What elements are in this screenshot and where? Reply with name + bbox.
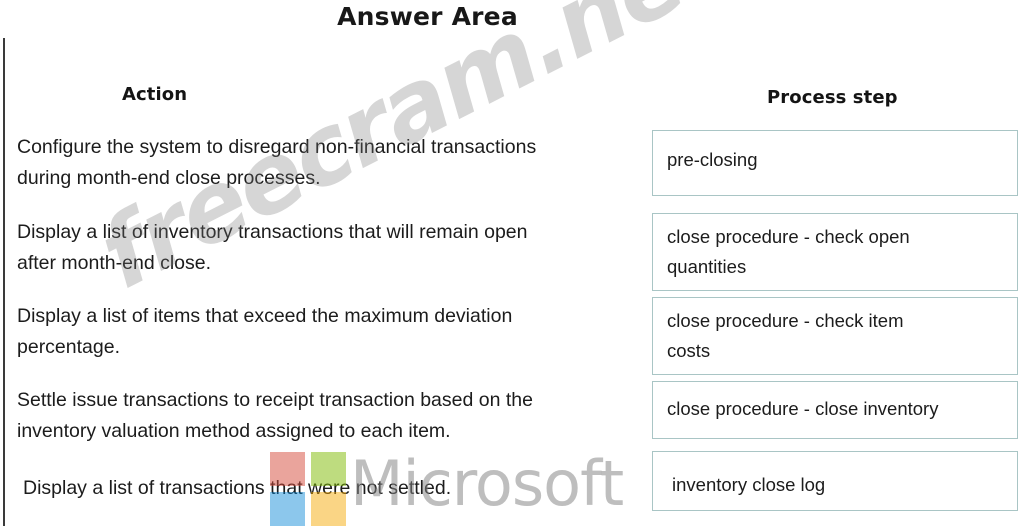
- process-step-line: costs: [667, 336, 1017, 366]
- action-item-line: inventory valuation method assigned to e…: [17, 416, 642, 447]
- process-step-box[interactable]: close procedure - check open quantities: [652, 213, 1018, 291]
- process-step-line: inventory close log: [672, 470, 1017, 500]
- process-step-box[interactable]: close procedure - check item costs: [652, 297, 1018, 375]
- action-item: Settle issue transactions to receipt tra…: [17, 385, 642, 447]
- action-item-line: Display a list of inventory transactions…: [17, 217, 642, 248]
- column-header-action: Action: [122, 84, 187, 105]
- column-header-process-step: Process step: [767, 87, 898, 108]
- action-item: Display a list of items that exceed the …: [17, 301, 642, 363]
- answer-area-page: Answer Area Action Process step Configur…: [0, 0, 1018, 526]
- page-title: Answer Area: [0, 2, 855, 31]
- action-item-line: Display a list of items that exceed the …: [17, 301, 642, 332]
- left-border-rule: [3, 38, 5, 526]
- process-step-line: quantities: [667, 252, 1017, 282]
- process-step-line: pre-closing: [667, 145, 1017, 175]
- process-step-box[interactable]: inventory close log: [652, 451, 1018, 511]
- action-item-line: Settle issue transactions to receipt tra…: [17, 385, 642, 416]
- process-step-line: close procedure - check item: [667, 306, 1017, 336]
- action-item: Display a list of transactions that were…: [17, 473, 642, 504]
- action-item-line: Configure the system to disregard non-fi…: [17, 132, 642, 163]
- action-item-line: percentage.: [17, 332, 642, 363]
- action-item: Display a list of inventory transactions…: [17, 217, 642, 279]
- action-item-line: during month-end close processes.: [17, 163, 642, 194]
- process-step-list: pre-closing close procedure - check open…: [652, 130, 1018, 511]
- process-step-box[interactable]: close procedure - close inventory: [652, 381, 1018, 439]
- action-item: Configure the system to disregard non-fi…: [17, 132, 642, 194]
- action-list: Configure the system to disregard non-fi…: [17, 132, 642, 504]
- process-step-line: close procedure - check open: [667, 222, 1017, 252]
- action-item-line: after month-end close.: [17, 248, 642, 279]
- process-step-box[interactable]: pre-closing: [652, 130, 1018, 196]
- action-item-line: Display a list of transactions that were…: [23, 473, 642, 504]
- process-step-line: close procedure - close inventory: [667, 394, 1017, 424]
